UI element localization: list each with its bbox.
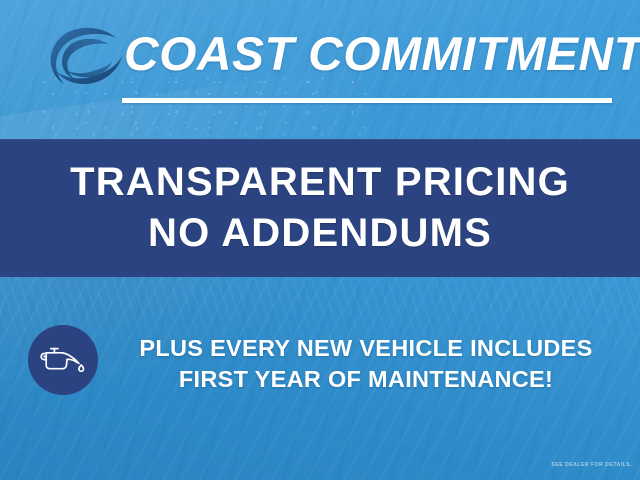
maintenance-promo-section: PLUS EVERY NEW VEHICLE INCLUDES FIRST YE… [0, 324, 640, 404]
pricing-headline-line-2: NO ADDENDUMS [148, 210, 492, 257]
header-section: COAST COMMITMENT [0, 0, 640, 128]
header-divider [122, 98, 612, 103]
coast-commitment-banner: COAST COMMITMENT TRANSPARENT PRICING NO … [0, 0, 640, 480]
promo-line-1: PLUS EVERY NEW VEHICLE INCLUDES [139, 333, 592, 364]
wave-swirl-logo-icon [38, 22, 126, 96]
oil-can-icon [28, 325, 98, 395]
brand-title: COAST COMMITMENT [124, 22, 634, 84]
pricing-banner: TRANSPARENT PRICING NO ADDENDUMS [0, 139, 640, 277]
disclaimer-text: SEE DEALER FOR DETAILS. [551, 462, 632, 468]
pricing-headline-line-1: TRANSPARENT PRICING [70, 159, 570, 206]
promo-line-2: FIRST YEAR OF MAINTENANCE! [179, 364, 553, 395]
promo-text-block: PLUS EVERY NEW VEHICLE INCLUDES FIRST YE… [110, 324, 622, 404]
